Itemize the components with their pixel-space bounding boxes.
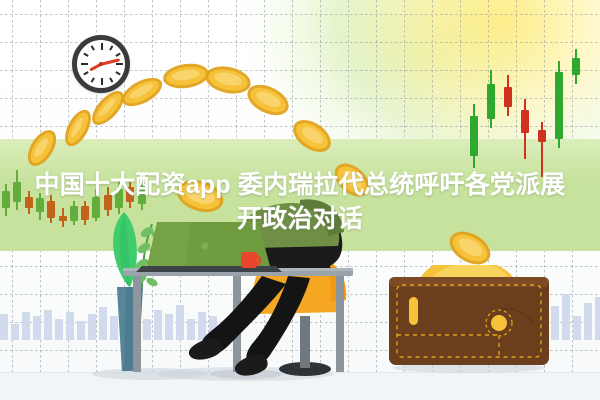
laptop-base [136, 266, 282, 272]
shoe-left [189, 338, 222, 360]
thumbnail-canvas: 中国十大配资app 委内瑞拉代总统呼吁各党派展 开政治对话 [0, 0, 600, 400]
brown-leather-wallet [385, 265, 553, 373]
desk-leg-right [336, 276, 344, 372]
wallet-clasp-button [491, 315, 507, 331]
coffee-mug [241, 252, 257, 268]
laptop-lid-highlight [147, 222, 190, 266]
desk-leg-left [133, 276, 141, 372]
laptop-logo [202, 243, 209, 250]
wallet-card-tab [409, 297, 418, 325]
chair-pole [300, 316, 310, 368]
